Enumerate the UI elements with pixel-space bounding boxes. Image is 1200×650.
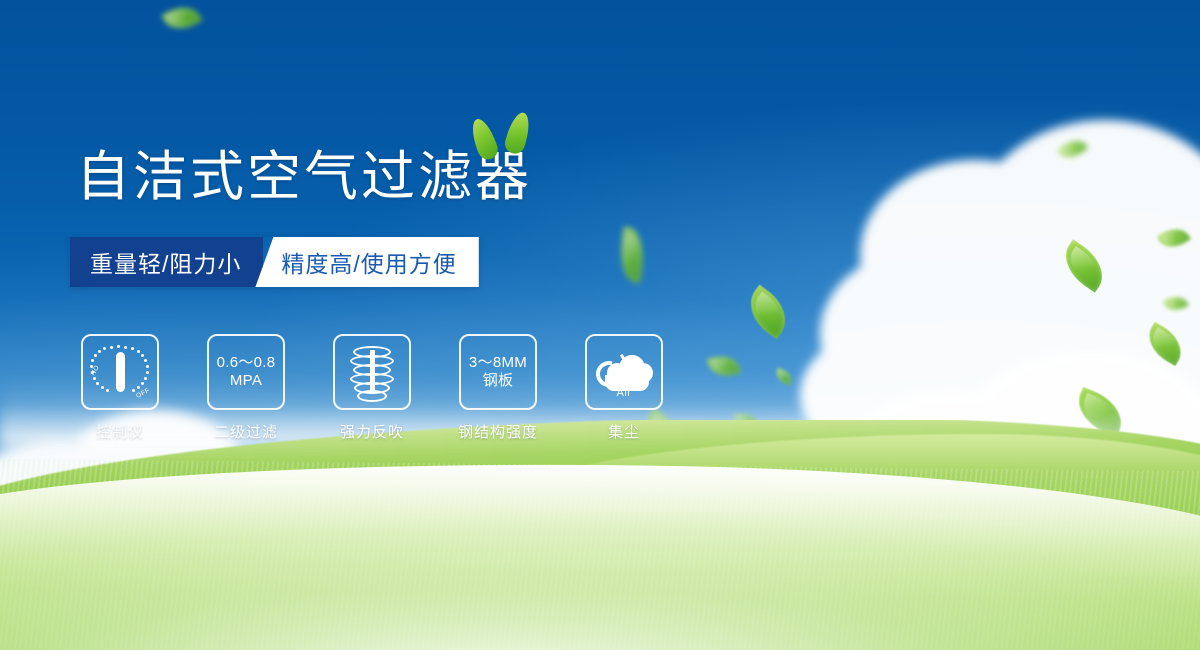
feature-item-strong-blowback[interactable]: 强力反吹 — [322, 334, 422, 442]
feature-label: 二级过滤 — [214, 421, 278, 442]
grass-sheen — [0, 500, 1200, 650]
feature-icon-box: 3～8MM 钢板 — [459, 334, 537, 410]
feature-label: 控制仪 — [96, 421, 144, 442]
feature-icon-box: 0.6～0.8 MPA — [207, 334, 285, 410]
feature-item-steel-strength[interactable]: 3～8MM 钢板 钢结构强度 — [448, 334, 548, 442]
sprout-leaves-icon — [470, 108, 534, 160]
feature-icon-box: NO OFF — [81, 334, 159, 410]
feature-icon-box — [333, 334, 411, 410]
feature-item-dust-collection[interactable]: Air 集尘 — [574, 334, 674, 442]
feature-list: NO OFF 控制仪 0.6～0.8 MPA 二级过滤 — [70, 334, 674, 442]
feature-icon-text-line2: MPA — [230, 372, 262, 390]
feature-label: 强力反吹 — [340, 421, 404, 442]
feature-label: 钢结构强度 — [458, 421, 538, 442]
grass-field — [0, 420, 1200, 650]
feature-item-control-instrument[interactable]: NO OFF 控制仪 — [70, 334, 170, 442]
hero-banner: 自洁式空气过滤器 重量轻/阻力小 精度高/使用方便 — [0, 0, 1200, 650]
feature-icon-text-line2: 钢板 — [483, 372, 514, 390]
feature-icon-text-line1: 0.6～0.8 — [217, 354, 276, 372]
gauge-needle — [116, 352, 125, 392]
coil-filter-icon — [349, 346, 395, 398]
subtitle-right: 精度高/使用方便 — [255, 237, 478, 287]
air-cloud-icon: Air — [595, 351, 653, 395]
feature-item-secondary-filtration[interactable]: 0.6～0.8 MPA 二级过滤 — [196, 334, 296, 442]
page-title: 自洁式空气过滤器 — [76, 146, 532, 208]
feature-icon-text-line1: 3～8MM — [469, 354, 527, 372]
subtitle-left: 重量轻/阻力小 — [70, 237, 263, 287]
feature-icon-box: Air — [585, 334, 663, 410]
subtitle-band: 重量轻/阻力小 精度高/使用方便 — [70, 237, 479, 287]
gauge-label-off: OFF — [135, 387, 151, 400]
feature-label: 集尘 — [608, 421, 640, 442]
gauge-icon: NO OFF — [91, 343, 149, 401]
air-icon-label: Air — [595, 387, 653, 399]
